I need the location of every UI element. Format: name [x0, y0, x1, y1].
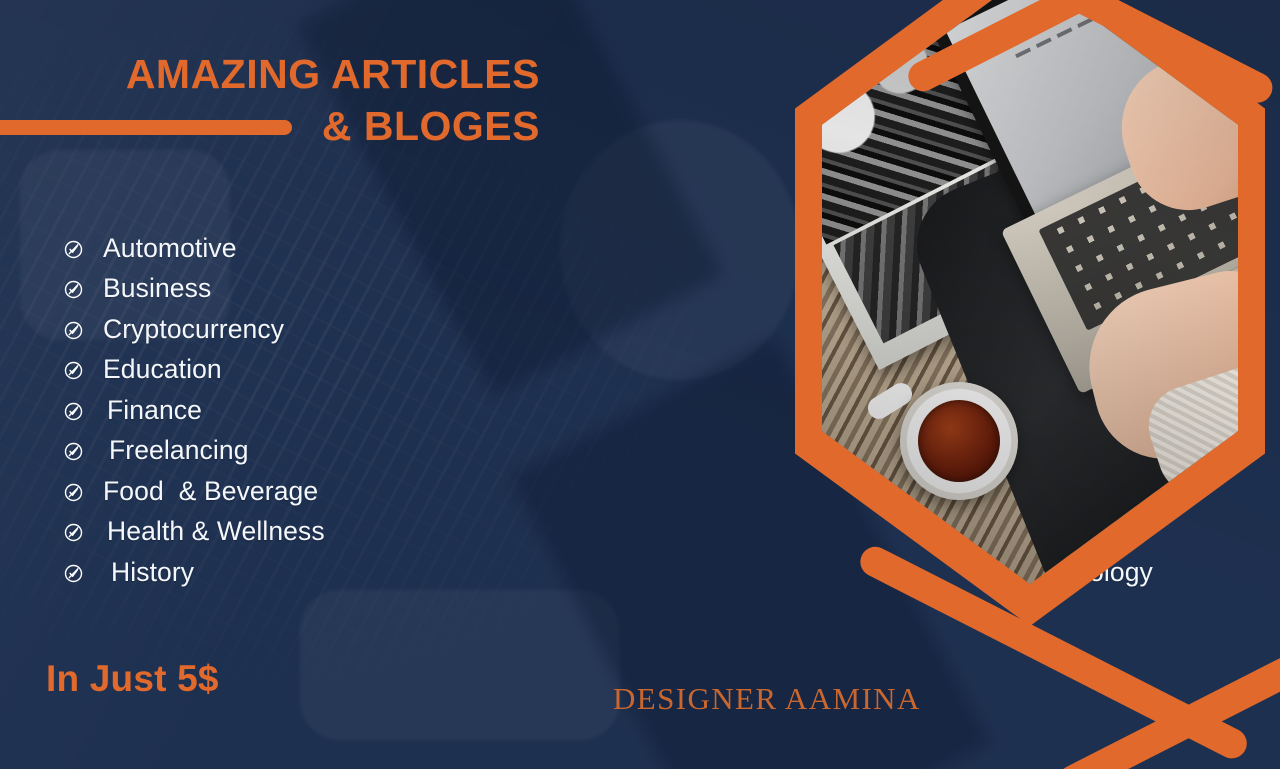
circled-check-icon: [64, 321, 83, 340]
list-item-label: Health & Wellness: [107, 516, 325, 547]
title-line-one: AMAZING ARTICLES: [0, 48, 540, 100]
list-item[interactable]: Health & Wellness: [64, 512, 494, 553]
list-item-label: Education: [103, 354, 222, 385]
list-item[interactable]: Cryptocurrency: [64, 309, 494, 350]
services-column-left: Automotive Business Cryptocurrency Educa…: [34, 228, 494, 593]
circled-check-icon: [64, 240, 83, 259]
background-blob-3: [300, 590, 620, 740]
list-item-label: History: [111, 557, 194, 588]
hexagon-graphic: [760, 0, 1280, 769]
list-item-label: Finance: [107, 395, 202, 426]
list-item[interactable]: Freelancing: [64, 431, 494, 472]
list-item-label: Freelancing: [109, 435, 249, 466]
list-item-label: Food & Beverage: [103, 476, 318, 507]
list-item[interactable]: Finance: [64, 390, 494, 431]
circled-check-icon: [64, 523, 83, 542]
list-item[interactable]: Food & Beverage: [64, 471, 494, 512]
list-item[interactable]: History: [64, 552, 494, 593]
list-item-label: Automotive: [103, 233, 237, 264]
list-item-label: Cryptocurrency: [103, 314, 284, 345]
poster-canvas: AMAZING ARTICLES & BLOGES Automotive Bus…: [0, 0, 1280, 769]
list-item[interactable]: Education: [64, 350, 494, 391]
circled-check-icon: [64, 402, 83, 421]
circled-check-icon: [64, 280, 83, 299]
circled-check-icon: [64, 564, 83, 583]
circled-check-icon: [64, 361, 83, 380]
price-text: In Just 5$: [46, 658, 219, 700]
list-item-label: Business: [103, 273, 211, 304]
title-underline-bar: [0, 120, 292, 135]
list-item[interactable]: Automotive: [64, 228, 494, 269]
circled-check-icon: [64, 483, 83, 502]
list-item[interactable]: Business: [64, 269, 494, 310]
poster-title: AMAZING ARTICLES & BLOGES: [0, 48, 540, 152]
circled-check-icon: [64, 442, 83, 461]
